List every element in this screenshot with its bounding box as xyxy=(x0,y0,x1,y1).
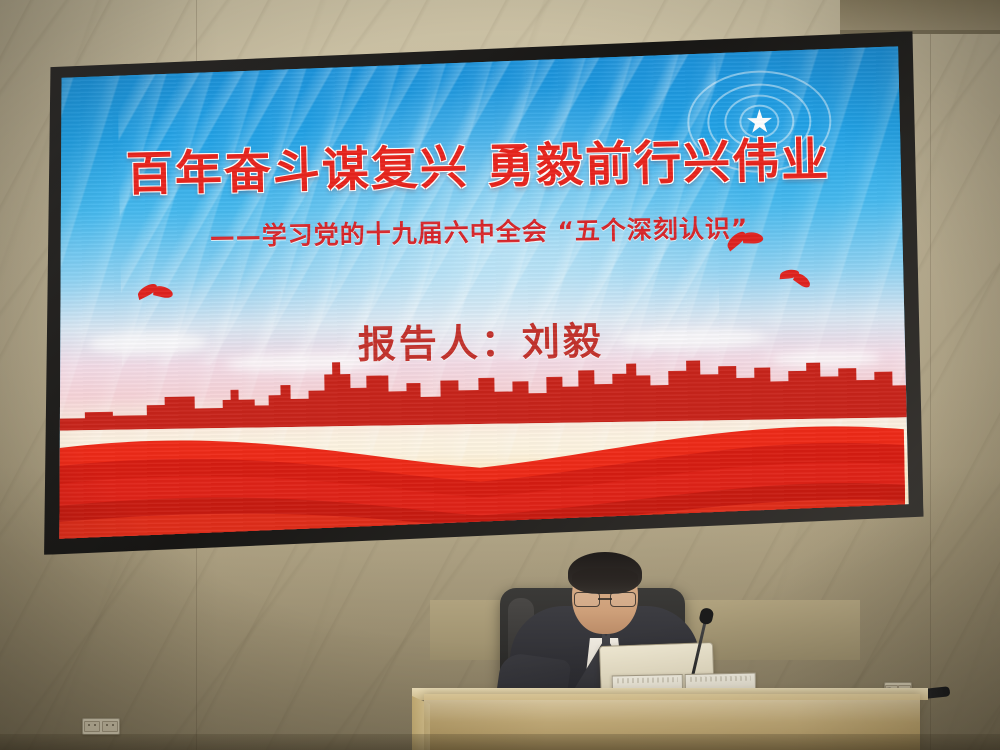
outlet-socket xyxy=(84,721,100,732)
speaker-hair xyxy=(568,552,642,594)
power-outlet-double[interactable] xyxy=(82,718,120,735)
slide-presenter-line: 报告人：刘毅 xyxy=(53,306,908,374)
outlet-socket xyxy=(102,721,118,732)
slide-text-layer: 百年奋斗谋复兴 勇毅前行兴伟业 ——学习党的十九届六中全会 “五个深刻认识” 报… xyxy=(49,44,910,541)
nameplate-header-text xyxy=(617,677,678,683)
nameplate-header-text xyxy=(690,676,751,682)
floor-shadow xyxy=(0,734,1000,750)
slide-subtitle: ——学习党的十九届六中全会 “五个深刻认识” xyxy=(52,206,906,255)
screen-panel: 百年奋斗谋复兴 勇毅前行兴伟业 ——学习党的十九届六中全会 “五个深刻认识” 报… xyxy=(49,44,910,541)
slide-title: 百年奋斗谋复兴 勇毅前行兴伟业 xyxy=(50,120,905,207)
conference-room-photo: 百年奋斗谋复兴 勇毅前行兴伟业 ——学习党的十九届六中全会 “五个深刻认识” 报… xyxy=(0,0,1000,750)
led-video-wall[interactable]: 百年奋斗谋复兴 勇毅前行兴伟业 ——学习党的十九届六中全会 “五个深刻认识” 报… xyxy=(36,31,924,555)
eyeglasses-icon xyxy=(574,592,636,606)
